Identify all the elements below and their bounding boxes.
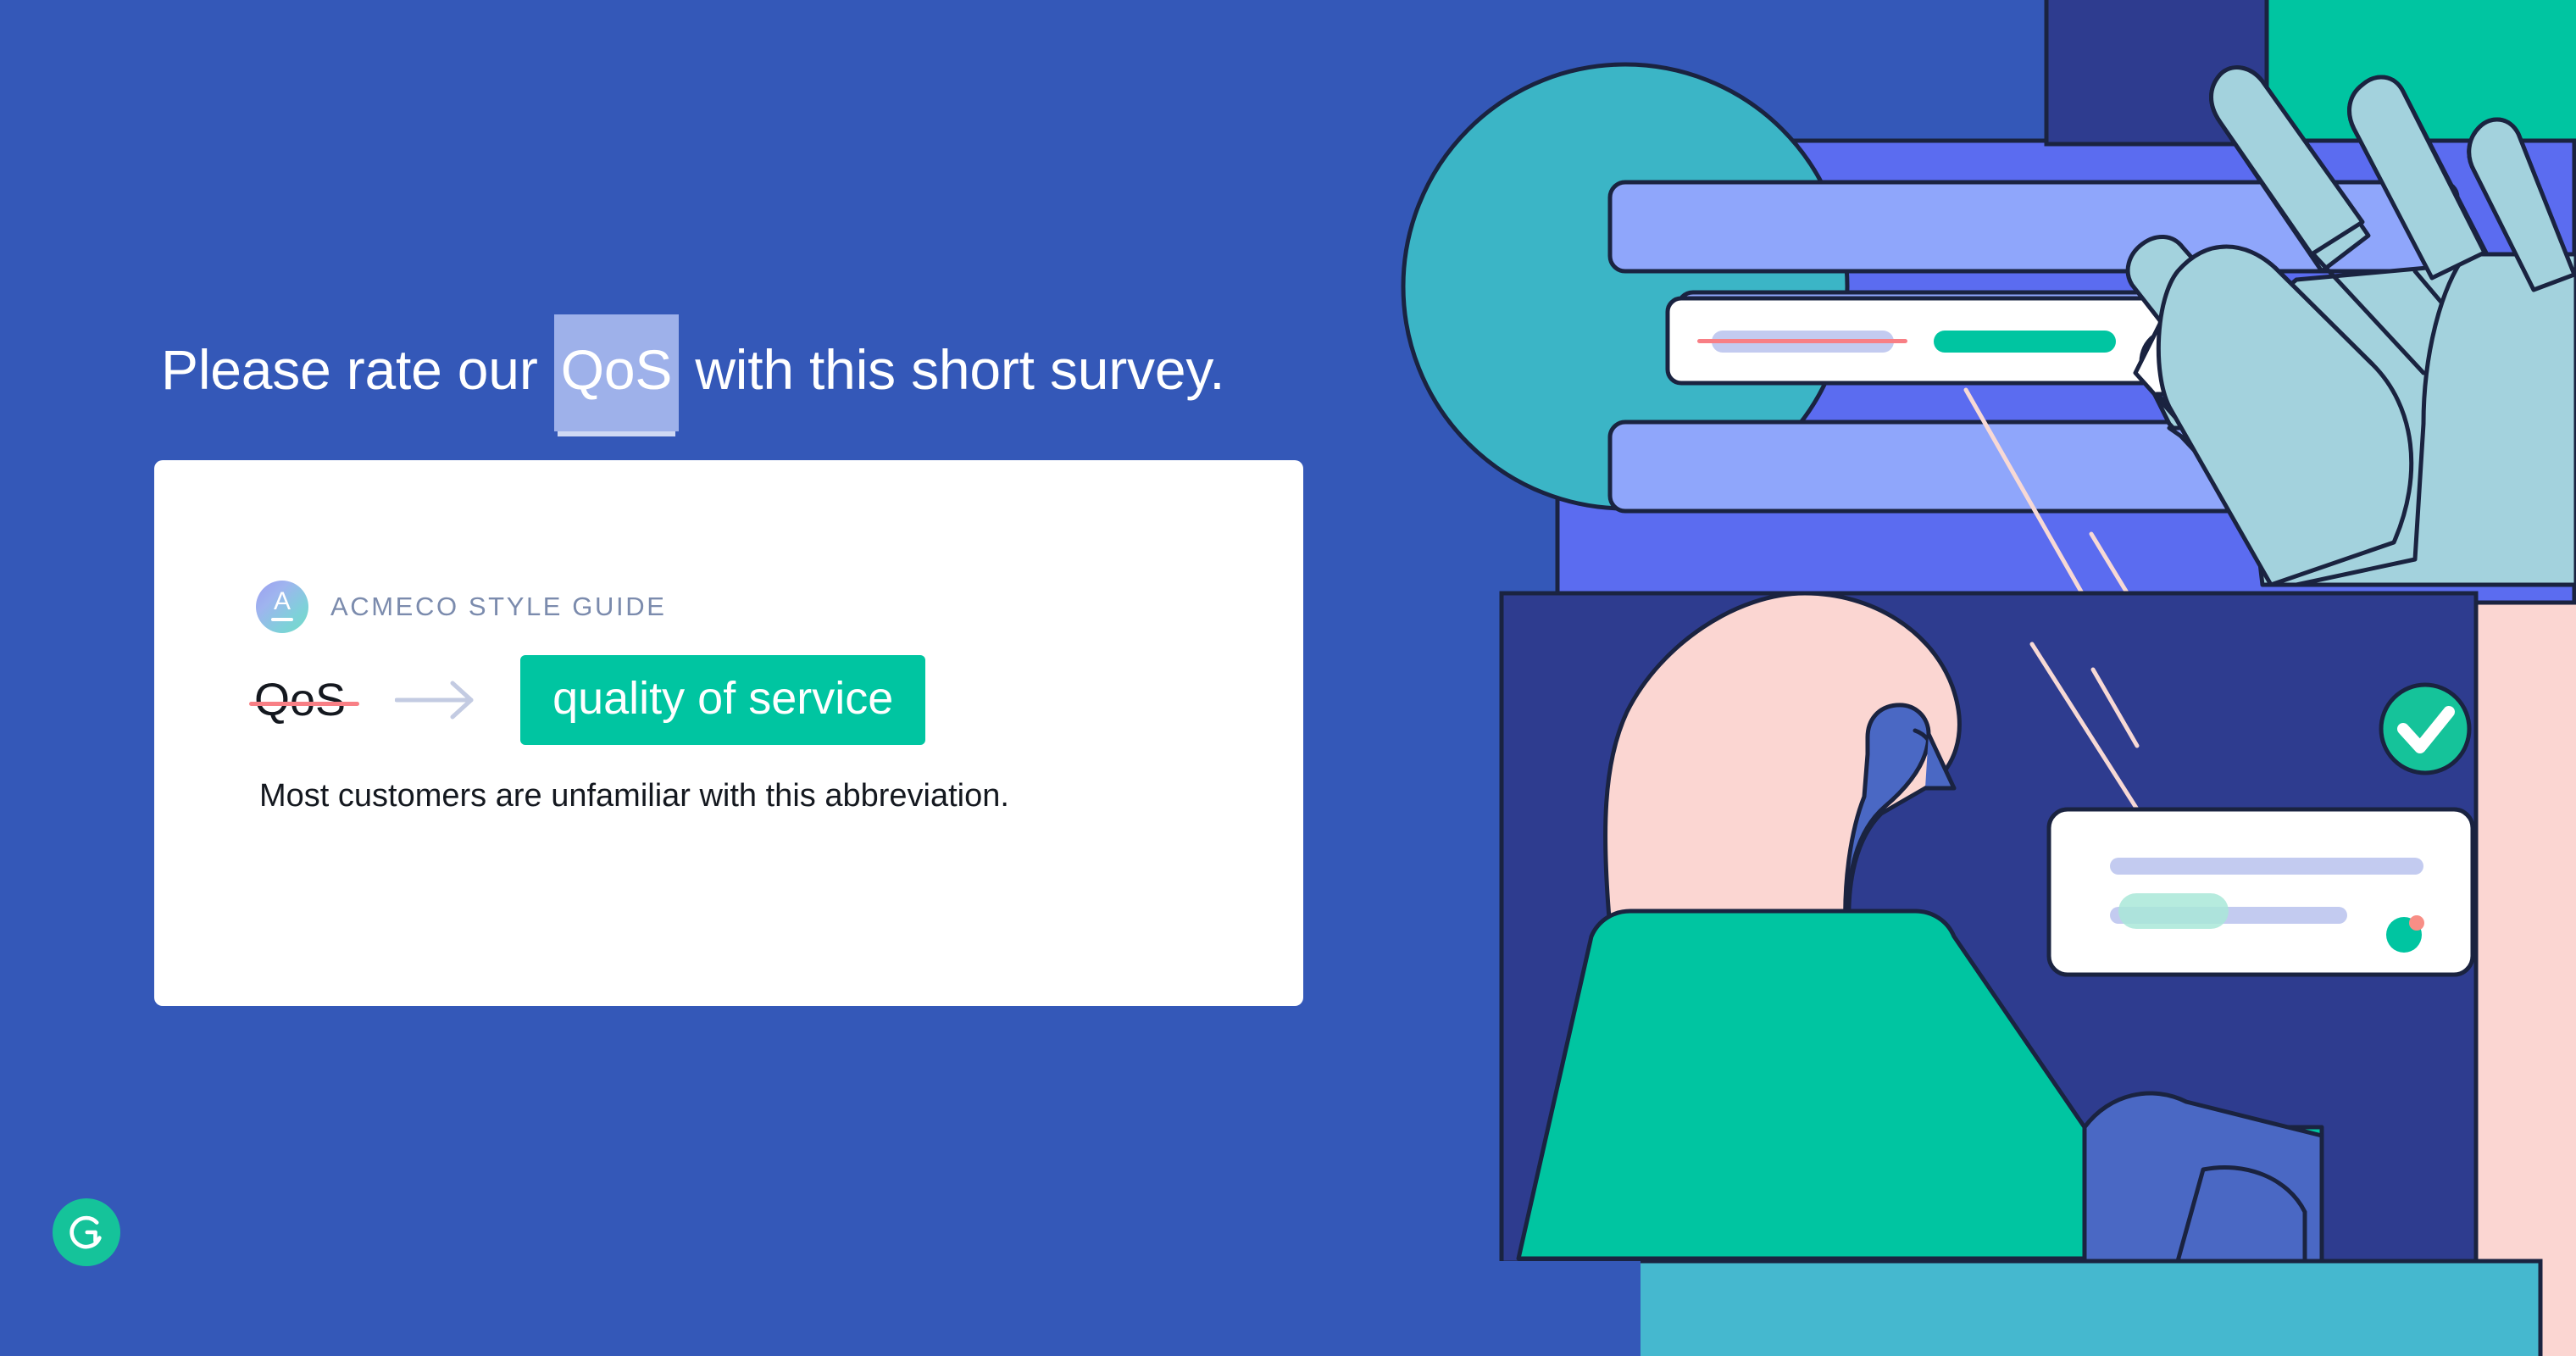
- style-guide-card: A ACMECO STYLE GUIDE QoS quality of serv…: [154, 460, 1303, 1006]
- page-title: Please rate our QoS with this short surv…: [161, 337, 1224, 403]
- arrow-right-icon: [395, 681, 476, 720]
- style-guide-badge-icon: A: [256, 581, 308, 633]
- grammarly-g-icon[interactable]: [53, 1198, 120, 1266]
- badge-letter: A: [274, 590, 291, 614]
- old-term: QoS: [254, 674, 358, 726]
- badge-underline: [271, 618, 293, 621]
- old-term-text: QoS: [254, 675, 346, 725]
- promo-banner: Please rate our QoS with this short surv…: [0, 0, 2576, 1356]
- card-header: A ACMECO STYLE GUIDE: [256, 581, 666, 633]
- card-source-label: ACMECO STYLE GUIDE: [330, 592, 666, 622]
- card-explanation: Most customers are unfamiliar with this …: [259, 778, 1009, 814]
- headline-before: Please rate our: [161, 338, 553, 401]
- hero-illustration: [1322, 0, 2576, 1356]
- headline-highlighted-term: QoS: [554, 314, 679, 431]
- headline-after: with this short survey.: [680, 338, 1224, 401]
- term-swap-row: QoS quality of service: [254, 653, 925, 747]
- suggested-term-chip[interactable]: quality of service: [520, 655, 925, 745]
- strikethrough-line: [249, 702, 359, 706]
